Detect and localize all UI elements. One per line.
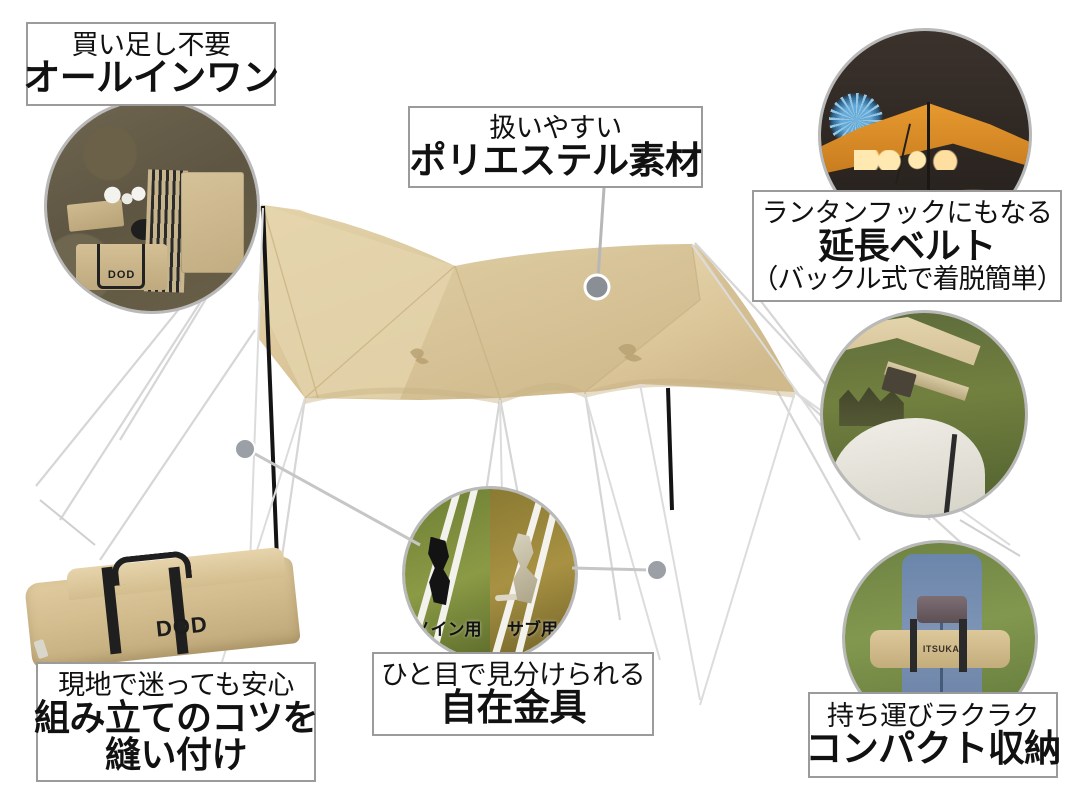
callout-all-in-one-line1: 買い足し不要 xyxy=(72,31,231,59)
callout-polyester-line1: 扱いやすい xyxy=(489,114,622,142)
storage-bag-strap-left xyxy=(910,619,918,672)
callout-tensioner-line2: 自在金具 xyxy=(440,689,586,727)
tarp-brand-logo-right xyxy=(618,344,642,362)
callout-sewn-instructions-line1: 現地で迷っても安心 xyxy=(58,671,294,699)
storage-bag-strap-right xyxy=(959,619,967,672)
callout-sewn-instructions: 現地で迷っても安心 組み立てのコツを 縫い付け xyxy=(36,662,316,782)
gear-small-parts xyxy=(104,185,146,210)
tarp-center-panel xyxy=(263,205,700,398)
callout-sewn-instructions-line3: 縫い付け xyxy=(105,736,247,773)
tarp-hem-shadow xyxy=(305,378,795,404)
callout-tensioner: ひと目で見分けられる 自在金具 xyxy=(372,652,654,736)
tarp-brand-logo-left xyxy=(410,348,429,364)
tarp-seams xyxy=(263,206,700,398)
leader-dot-tensioner-right xyxy=(647,560,667,580)
tarp-left-fold xyxy=(258,205,455,399)
callout-sewn-instructions-line2: 組み立てのコツを xyxy=(34,699,318,736)
storage-bag-brand-text: ITSUKA xyxy=(923,644,960,654)
callout-extension-belt-line2: 延長ベルト xyxy=(818,227,996,264)
tensioner-sub-caption: サブ用 xyxy=(490,615,575,640)
pole-right xyxy=(668,388,672,510)
gear-bag-strap xyxy=(97,244,145,289)
callout-extension-belt: ランタンフックにもなる 延長ベルト （バックル式で着脱簡単） xyxy=(752,190,1062,302)
tensioner-sub-half: サブ用 xyxy=(490,489,575,659)
extension-belt-photo xyxy=(820,310,1028,518)
leader-line-tensioner-right xyxy=(572,568,650,570)
callout-extension-belt-line1: ランタンフックにもなる xyxy=(762,199,1053,227)
leader-line-tensioner-left xyxy=(248,450,420,545)
callout-compact-storage: 持ち運びラクラク コンパクト収納 xyxy=(808,692,1058,778)
infographic-canvas: DOD ITSUKA メイン xyxy=(0,0,1080,810)
tarp-main-silhouette xyxy=(258,205,795,399)
callout-tensioner-line1: ひと目で見分けられる xyxy=(381,661,645,689)
tensioner-main-half: メイン用 xyxy=(405,489,490,659)
string-lights xyxy=(854,150,970,171)
callout-polyester-line2: ポリエステル素材 xyxy=(410,142,702,180)
callout-extension-belt-line3: （バックル式で着脱簡単） xyxy=(751,265,1062,293)
tensioner-comparison-photo: メイン用 サブ用 xyxy=(402,486,578,662)
leader-dot-tensioner-left xyxy=(235,439,255,459)
callout-compact-storage-line2: コンパクト収納 xyxy=(805,730,1061,768)
gear-bag-brand-logo: DOD xyxy=(108,269,135,281)
callout-polyester: 扱いやすい ポリエステル素材 xyxy=(408,106,703,188)
tensioner-main-caption: メイン用 xyxy=(405,615,490,640)
leader-dot-polyester xyxy=(585,275,609,299)
tarp-left-panel xyxy=(258,205,500,400)
gear-folded-tarp xyxy=(181,172,244,273)
callout-all-in-one-line2: オールインワン xyxy=(23,59,279,97)
callout-all-in-one: 買い足し不要 オールインワン xyxy=(26,22,276,106)
leader-line-polyester xyxy=(598,188,604,278)
carry-bag-product-shot: DOD xyxy=(22,536,302,676)
all-in-one-gear-photo: DOD xyxy=(44,98,260,314)
callout-compact-storage-line1: 持ち運びラクラク xyxy=(827,702,1039,730)
